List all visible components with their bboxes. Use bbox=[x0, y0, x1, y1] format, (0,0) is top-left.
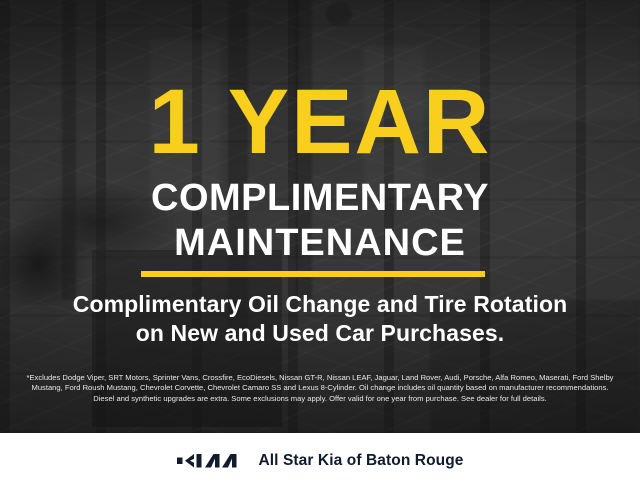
tagline-line1: Complimentary Oil Change and Tire Rotati… bbox=[73, 291, 568, 317]
hero-content: 1 YEAR COMPLIMENTARY MAINTENANCE Complim… bbox=[0, 0, 640, 433]
disclaimer-text: *Excludes Dodge Viper, SRT Motors, Sprin… bbox=[14, 373, 626, 404]
footer-brand-lockup: All Star Kia of Baton Rouge bbox=[176, 452, 463, 470]
promotional-banner-ad: 1 YEAR COMPLIMENTARY MAINTENANCE Complim… bbox=[0, 0, 640, 488]
tagline: Complimentary Oil Change and Tire Rotati… bbox=[0, 290, 640, 348]
footer-bar: All Star Kia of Baton Rouge bbox=[0, 433, 640, 488]
headline-secondary-line2: MAINTENANCE bbox=[0, 221, 640, 266]
headline-secondary: COMPLIMENTARY MAINTENANCE bbox=[0, 176, 640, 266]
yellow-divider-rule bbox=[141, 271, 485, 277]
disclaimer-line-2: Mustang, Ford Roush Mustang, Chevrolet C… bbox=[14, 383, 626, 393]
headline-primary: 1 YEAR bbox=[0, 76, 640, 168]
hero-section: 1 YEAR COMPLIMENTARY MAINTENANCE Complim… bbox=[0, 0, 640, 433]
tagline-line2: on New and Used Car Purchases. bbox=[0, 319, 640, 348]
kia-logo bbox=[176, 452, 240, 469]
headline-secondary-line1: COMPLIMENTARY bbox=[151, 177, 489, 219]
disclaimer-line-3: Diesel and synthetic upgrades are extra.… bbox=[14, 394, 626, 404]
dealer-name: All Star Kia of Baton Rouge bbox=[258, 452, 463, 470]
disclaimer-line-1: *Excludes Dodge Viper, SRT Motors, Sprin… bbox=[14, 373, 626, 383]
